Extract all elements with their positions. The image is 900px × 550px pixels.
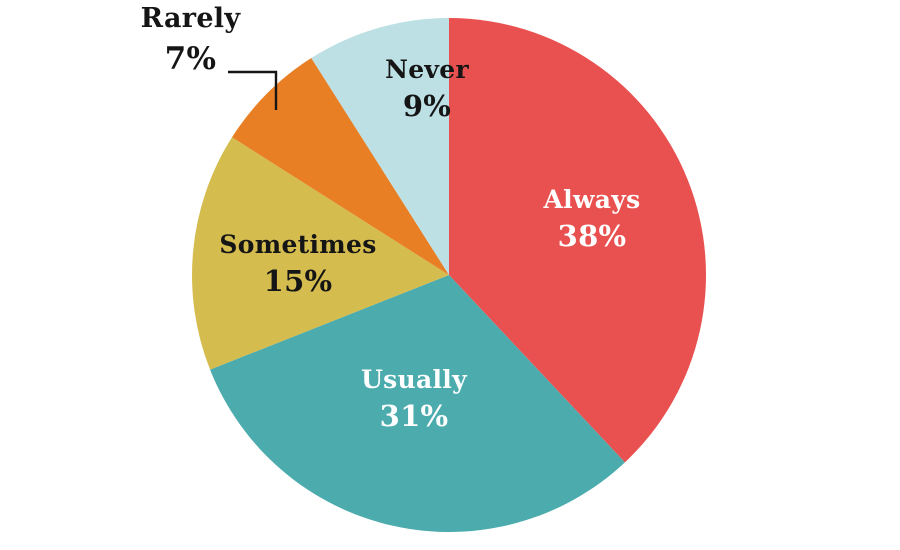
pie-label-never-value: 9% — [342, 90, 512, 122]
pie-label-never: Never 9% — [342, 56, 512, 122]
pie-label-always-value: 38% — [502, 220, 682, 252]
pie-label-never-name: Never — [342, 56, 512, 84]
pie-label-sometimes-value: 15% — [198, 265, 398, 297]
pie-label-always: Always 38% — [502, 186, 682, 252]
pie-label-sometimes: Sometimes 15% — [198, 231, 398, 297]
pie-label-sometimes-name: Sometimes — [198, 231, 398, 259]
pie-label-rarely-name: Rarely — [128, 4, 253, 34]
pie-label-rarely-value: 7% — [128, 42, 253, 77]
pie-label-always-name: Always — [502, 186, 682, 214]
pie-label-usually-value: 31% — [324, 400, 504, 432]
pie-label-rarely: Rarely 7% — [128, 4, 253, 77]
pie-label-usually-name: Usually — [324, 366, 504, 394]
pie-label-usually: Usually 31% — [324, 366, 504, 432]
pie-chart: Always 38% Usually 31% Sometimes 15% Rar… — [0, 0, 900, 550]
